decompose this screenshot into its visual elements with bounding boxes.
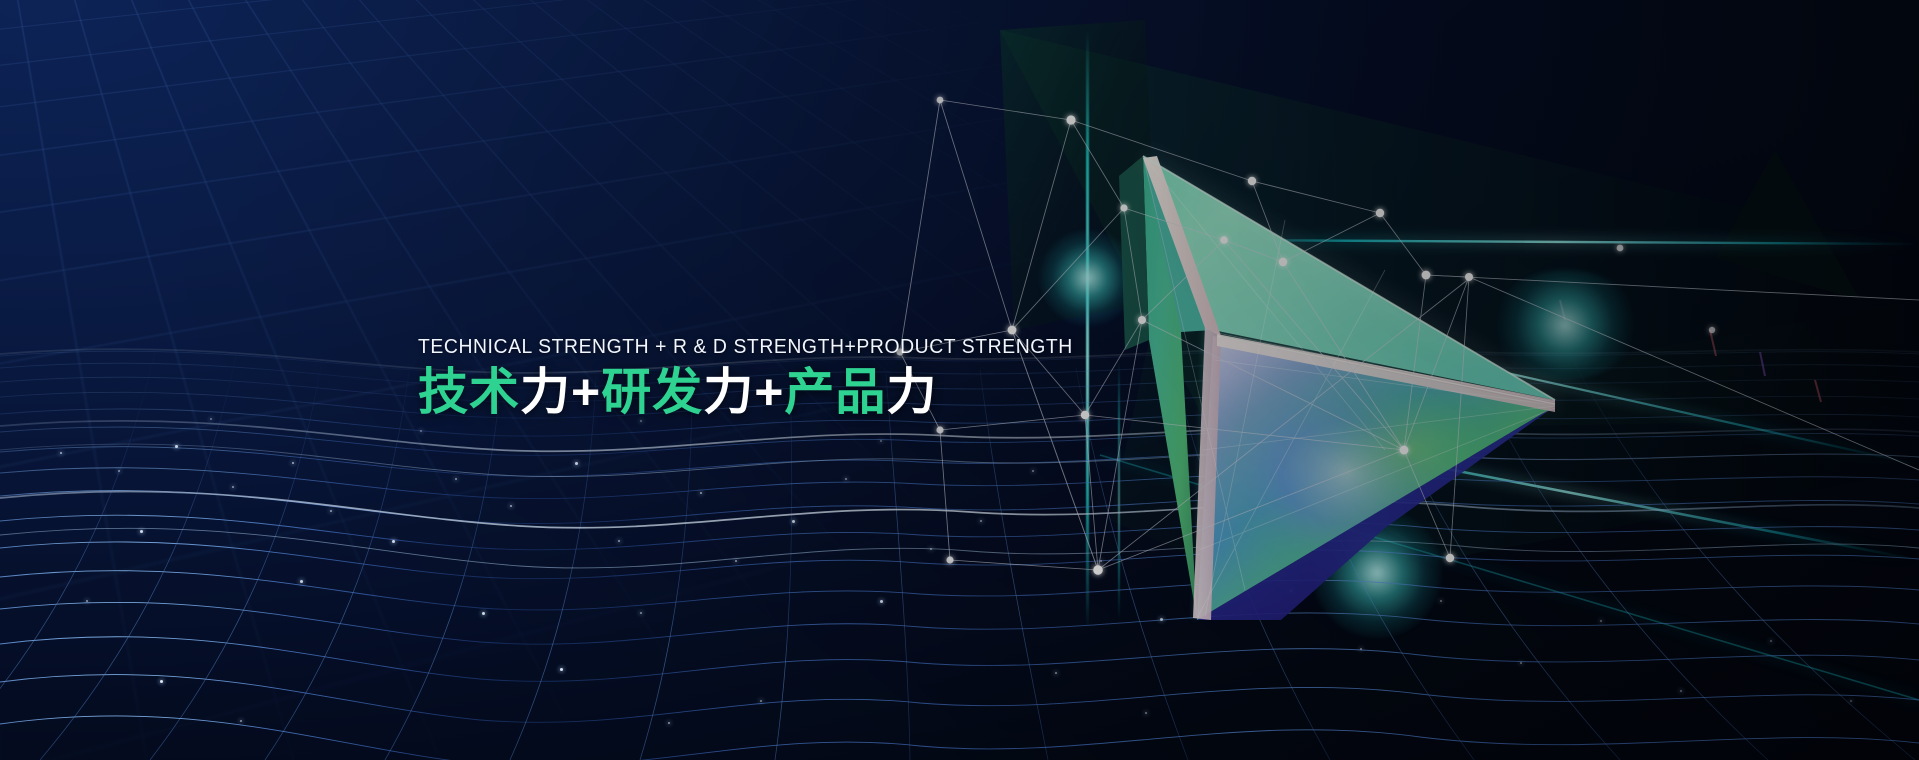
headline-segment-7: 产品 [784, 364, 886, 420]
hero-eyebrow: TECHNICAL STRENGTH + R & D STRENGTH+PROD… [418, 336, 1023, 359]
hero-headline: 技术力+研发力+产品力 [418, 365, 1058, 420]
headline-segment-6: + [754, 364, 784, 420]
headline-segment-2: 力 [520, 364, 571, 420]
headline-segment-3: + [571, 364, 601, 420]
headline-segment-5: 力 [703, 364, 754, 420]
headline-segment-8: 力 [886, 364, 937, 420]
headline-segment-1: 技术 [418, 364, 520, 420]
hero-copy: TECHNICAL STRENGTH + R & D STRENGTH+PROD… [418, 336, 1058, 420]
hero-banner: TECHNICAL STRENGTH + R & D STRENGTH+PROD… [0, 0, 1919, 760]
headline-segment-4: 研发 [601, 364, 703, 420]
